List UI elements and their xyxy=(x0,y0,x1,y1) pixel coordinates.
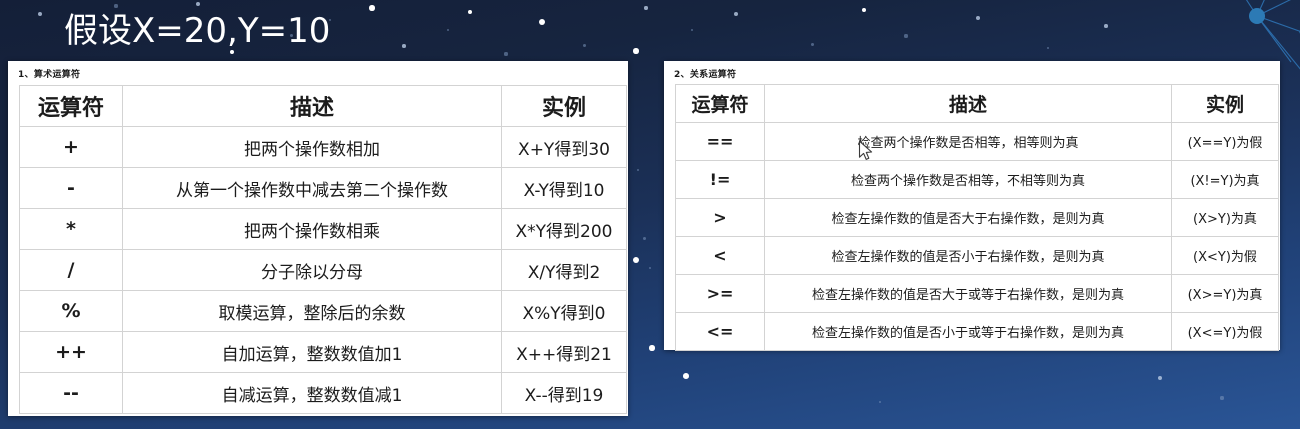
arithmetic-cell-description: 自加运算，整数数值加1 xyxy=(123,332,502,373)
arithmetic-cell-description: 把两个操作数相加 xyxy=(123,127,502,168)
arithmetic-table-row: %取模运算，整除后的余数X%Y得到0 xyxy=(20,291,627,332)
relational-cell-description: 检查左操作数的值是否大于右操作数，是则为真 xyxy=(765,199,1172,237)
star-dot xyxy=(633,257,639,263)
arithmetic-cell-operator: - xyxy=(20,168,123,209)
star-dot xyxy=(447,29,450,32)
star-dot xyxy=(643,237,646,240)
relational-table-row: >=检查左操作数的值是否大于或等于右操作数，是则为真(X>=Y)为真 xyxy=(676,275,1279,313)
relational-cell-example: (X<Y)为假 xyxy=(1172,237,1279,275)
star-dot xyxy=(369,5,374,10)
arithmetic-cell-description: 把两个操作数相乘 xyxy=(123,209,502,250)
arithmetic-panel-caption: 1、算术运算符 xyxy=(8,61,628,83)
arithmetic-table-row: /分子除以分母X/Y得到2 xyxy=(20,250,627,291)
star-dot xyxy=(504,52,507,55)
star-dot xyxy=(691,29,694,32)
relational-table-row: <检查左操作数的值是否小于右操作数，是则为真(X<Y)为假 xyxy=(676,237,1279,275)
slide-canvas: 假设X=20,Y=10 1、算术运算符 运算符描述实例+把两个操作数相加X+Y得… xyxy=(0,0,1300,429)
relational-operators-panel: 2、关系运算符 运算符描述实例==检查两个操作数是否相等，相等则为真(X==Y)… xyxy=(664,61,1280,350)
relational-cell-example: (X>Y)为真 xyxy=(1172,199,1279,237)
arithmetic-table-row: -从第一个操作数中减去第二个操作数X-Y得到10 xyxy=(20,168,627,209)
arithmetic-cell-operator: -- xyxy=(20,373,123,414)
star-dot xyxy=(649,267,652,270)
star-dot xyxy=(539,19,545,25)
star-dot xyxy=(637,169,640,172)
star-dot xyxy=(904,34,907,37)
relational-cell-operator: <= xyxy=(676,313,765,351)
star-dot xyxy=(734,12,738,16)
arithmetic-cell-example: X%Y得到0 xyxy=(502,291,627,332)
relational-cell-description: 检查左操作数的值是否大于或等于右操作数，是则为真 xyxy=(765,275,1172,313)
arithmetic-cell-operator: % xyxy=(20,291,123,332)
star-dot xyxy=(644,6,647,9)
arithmetic-cell-operator: + xyxy=(20,127,123,168)
arithmetic-header-row: 运算符描述实例 xyxy=(20,86,627,127)
relational-cell-operator: < xyxy=(676,237,765,275)
arithmetic-operators-table: 运算符描述实例+把两个操作数相加X+Y得到30-从第一个操作数中减去第二个操作数… xyxy=(19,85,627,414)
star-dot xyxy=(1220,396,1223,399)
star-dot xyxy=(468,10,473,15)
relational-cell-description: 检查左操作数的值是否小于右操作数，是则为真 xyxy=(765,237,1172,275)
relational-cell-operator: == xyxy=(676,123,765,161)
arithmetic-table-row: --自减运算，整数数值减1X--得到19 xyxy=(20,373,627,414)
star-dot xyxy=(1158,376,1162,380)
relational-table-row: !=检查两个操作数是否相等，不相等则为真(X!=Y)为真 xyxy=(676,161,1279,199)
arithmetic-cell-operator: / xyxy=(20,250,123,291)
relational-table-row: <=检查左操作数的值是否小于或等于右操作数，是则为真(X<=Y)为假 xyxy=(676,313,1279,351)
arithmetic-cell-example: X*Y得到200 xyxy=(502,209,627,250)
star-dot xyxy=(114,4,117,7)
relational-operators-table: 运算符描述实例==检查两个操作数是否相等，相等则为真(X==Y)为假!=检查两个… xyxy=(675,84,1279,351)
arithmetic-table-body: 运算符描述实例+把两个操作数相加X+Y得到30-从第一个操作数中减去第二个操作数… xyxy=(20,86,627,414)
star-dot xyxy=(1104,24,1108,28)
arithmetic-col-header-description: 描述 xyxy=(123,86,502,127)
relational-cell-description: 检查两个操作数是否相等，不相等则为真 xyxy=(765,161,1172,199)
relational-cell-description: 检查两个操作数是否相等，相等则为真 xyxy=(765,123,1172,161)
arithmetic-table-row: ++自加运算，整数数值加1X++得到21 xyxy=(20,332,627,373)
relational-cell-operator: >= xyxy=(676,275,765,313)
arithmetic-cell-example: X--得到19 xyxy=(502,373,627,414)
star-dot xyxy=(196,2,200,6)
relational-cell-example: (X!=Y)为真 xyxy=(1172,161,1279,199)
arithmetic-cell-description: 取模运算，整除后的余数 xyxy=(123,291,502,332)
star-dot xyxy=(402,44,406,48)
relational-cell-description: 检查左操作数的值是否小于或等于右操作数，是则为真 xyxy=(765,313,1172,351)
star-dot xyxy=(683,373,689,379)
star-dot xyxy=(879,401,882,404)
relational-col-header-example: 实例 xyxy=(1172,85,1279,123)
arithmetic-cell-operator: * xyxy=(20,209,123,250)
relational-cell-example: (X<=Y)为假 xyxy=(1172,313,1279,351)
star-dot xyxy=(976,16,980,20)
star-dot xyxy=(633,48,638,53)
arithmetic-table-row: *把两个操作数相乘X*Y得到200 xyxy=(20,209,627,250)
relational-col-header-description: 描述 xyxy=(765,85,1172,123)
relational-panel-caption: 2、关系运算符 xyxy=(664,61,1280,83)
arithmetic-col-header-operator: 运算符 xyxy=(20,86,123,127)
relational-table-row: >检查左操作数的值是否大于右操作数，是则为真(X>Y)为真 xyxy=(676,199,1279,237)
star-dot xyxy=(583,44,586,47)
star-dot xyxy=(862,8,867,13)
arithmetic-col-header-example: 实例 xyxy=(502,86,627,127)
relational-cell-example: (X>=Y)为真 xyxy=(1172,275,1279,313)
arithmetic-cell-description: 自减运算，整数数值减1 xyxy=(123,373,502,414)
relational-cell-operator: != xyxy=(676,161,765,199)
network-node-dot xyxy=(1249,8,1265,24)
arithmetic-cell-example: X/Y得到2 xyxy=(502,250,627,291)
star-dot xyxy=(649,345,654,350)
star-dot xyxy=(811,43,814,46)
arithmetic-cell-example: X-Y得到10 xyxy=(502,168,627,209)
relational-col-header-operator: 运算符 xyxy=(676,85,765,123)
arithmetic-cell-operator: ++ xyxy=(20,332,123,373)
arithmetic-cell-example: X+Y得到30 xyxy=(502,127,627,168)
relational-table-body: 运算符描述实例==检查两个操作数是否相等，相等则为真(X==Y)为假!=检查两个… xyxy=(676,85,1279,351)
arithmetic-cell-description: 从第一个操作数中减去第二个操作数 xyxy=(123,168,502,209)
page-title: 假设X=20,Y=10 xyxy=(64,9,330,53)
star-dot xyxy=(38,12,42,16)
arithmetic-operators-panel: 1、算术运算符 运算符描述实例+把两个操作数相加X+Y得到30-从第一个操作数中… xyxy=(8,61,628,416)
arithmetic-table-row: +把两个操作数相加X+Y得到30 xyxy=(20,127,627,168)
star-dot xyxy=(1047,47,1050,50)
relational-cell-example: (X==Y)为假 xyxy=(1172,123,1279,161)
arithmetic-cell-description: 分子除以分母 xyxy=(123,250,502,291)
arithmetic-cell-example: X++得到21 xyxy=(502,332,627,373)
relational-table-row: ==检查两个操作数是否相等，相等则为真(X==Y)为假 xyxy=(676,123,1279,161)
relational-header-row: 运算符描述实例 xyxy=(676,85,1279,123)
relational-cell-operator: > xyxy=(676,199,765,237)
